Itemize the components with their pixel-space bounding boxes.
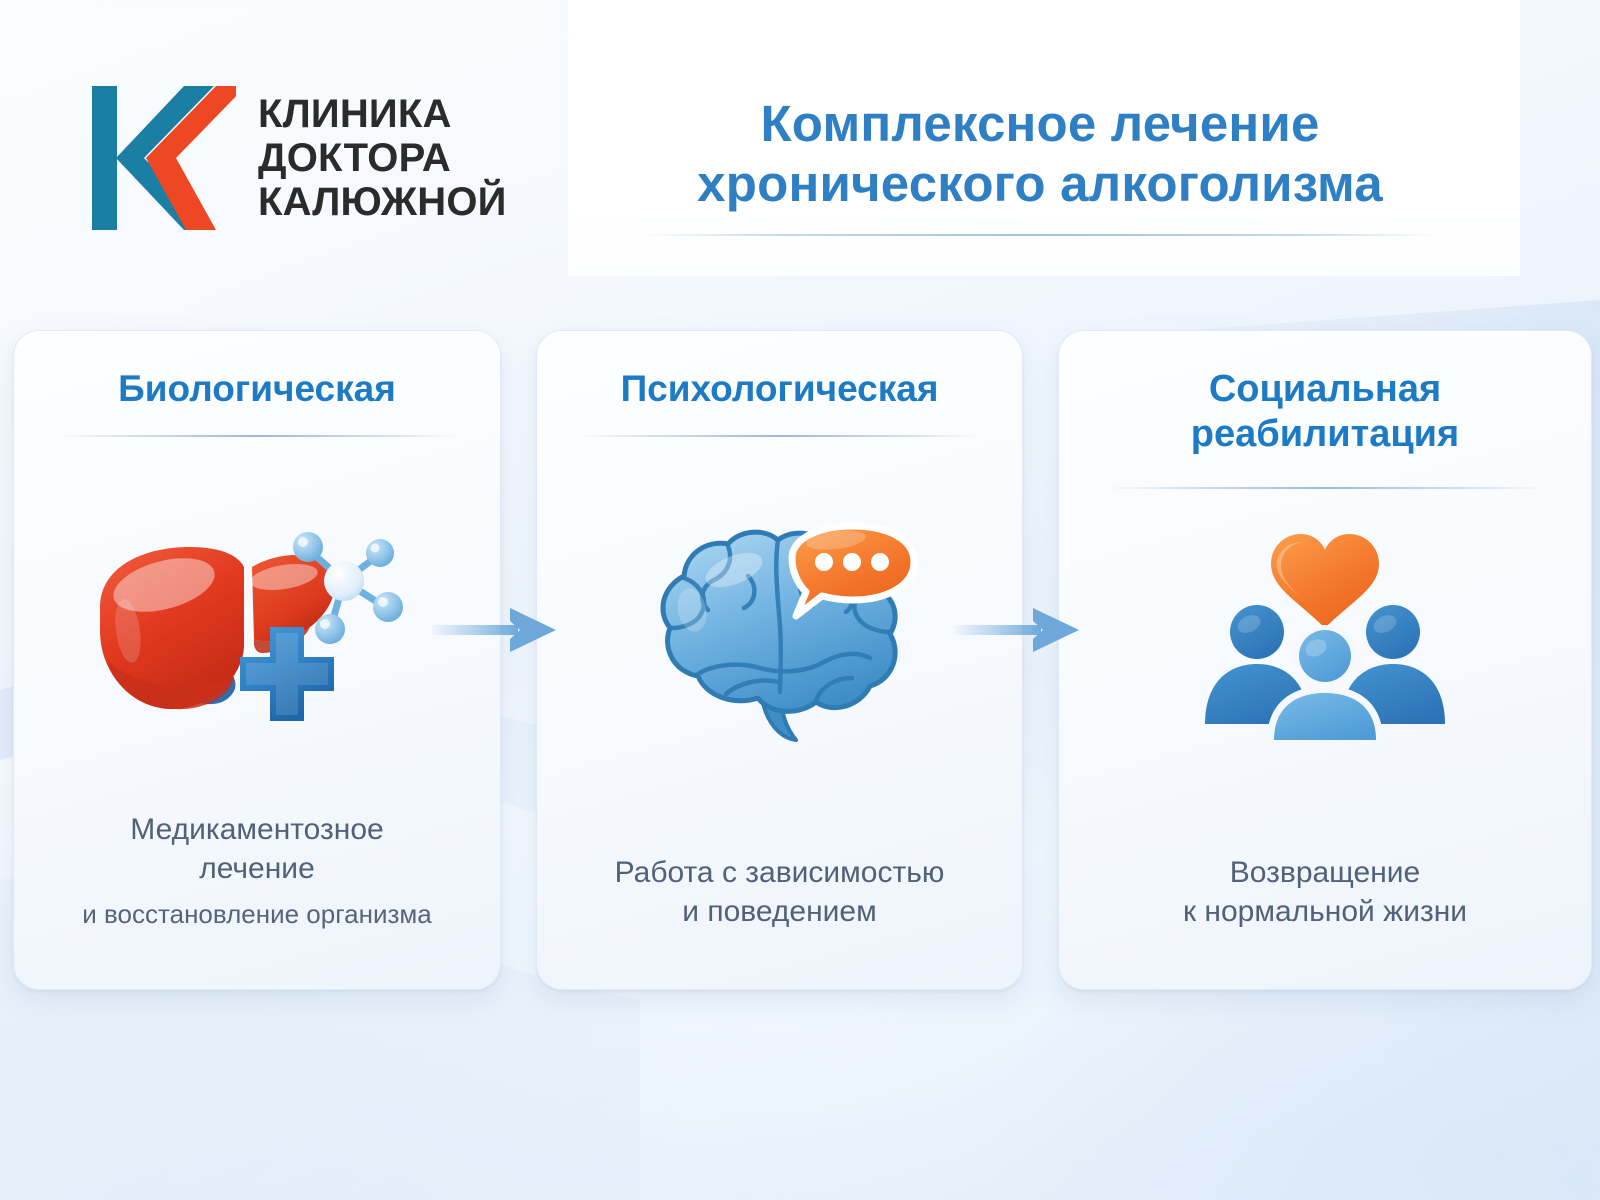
card-social-caption: Возвращение к нормальной жизни [1059,853,1591,931]
arrow-biological-to-psychological [432,604,556,656]
card-divider [1107,487,1543,489]
liver-pill-molecule-icon [14,491,500,761]
card-psychological[interactable]: Психологическая [536,330,1023,990]
card-biological-caption-main: Медикаментозное лечение [36,810,478,888]
card-social-title: Социальная реабилитация [1059,367,1591,457]
card-psychological-caption: Работа с зависимостью и поведением [537,853,1022,931]
brand-logo[interactable]: КЛИНИКА ДОКТОРА КАЛЮЖНОЙ [88,82,507,234]
card-biological-caption-sub: и восстановление организма [36,898,478,931]
card-biological[interactable]: Биологическая [13,330,501,990]
card-biological-caption: Медикаментозное лечение и восстановление… [14,810,500,931]
card-divider [581,435,979,437]
kk-monogram-icon [88,82,236,234]
page-title: Комплексное лечение хронического алкогол… [600,94,1480,236]
page-title-line-2: хронического алкоголизма [600,154,1480,214]
card-social-caption-main: Возвращение к нормальной жизни [1081,853,1569,931]
card-divider [58,435,457,437]
card-social-rehabilitation[interactable]: Социальная реабилитация [1058,330,1592,990]
arrow-psychological-to-social [955,604,1079,656]
treatment-stage-cards: Биологическая [0,330,1600,1000]
header: КЛИНИКА ДОКТОРА КАЛЮЖНОЙ Комплексное леч… [0,0,1600,300]
people-group-heart-icon [1059,499,1591,769]
page-title-line-1: Комплексное лечение [600,94,1480,154]
card-psychological-caption-main: Работа с зависимостью и поведением [559,853,1000,931]
title-underline [640,234,1440,236]
brain-speech-bubble-icon [537,491,1022,761]
card-psychological-title: Психологическая [537,367,1022,411]
card-biological-title: Биологическая [14,367,500,411]
brand-name: КЛИНИКА ДОКТОРА КАЛЮЖНОЙ [258,92,507,224]
